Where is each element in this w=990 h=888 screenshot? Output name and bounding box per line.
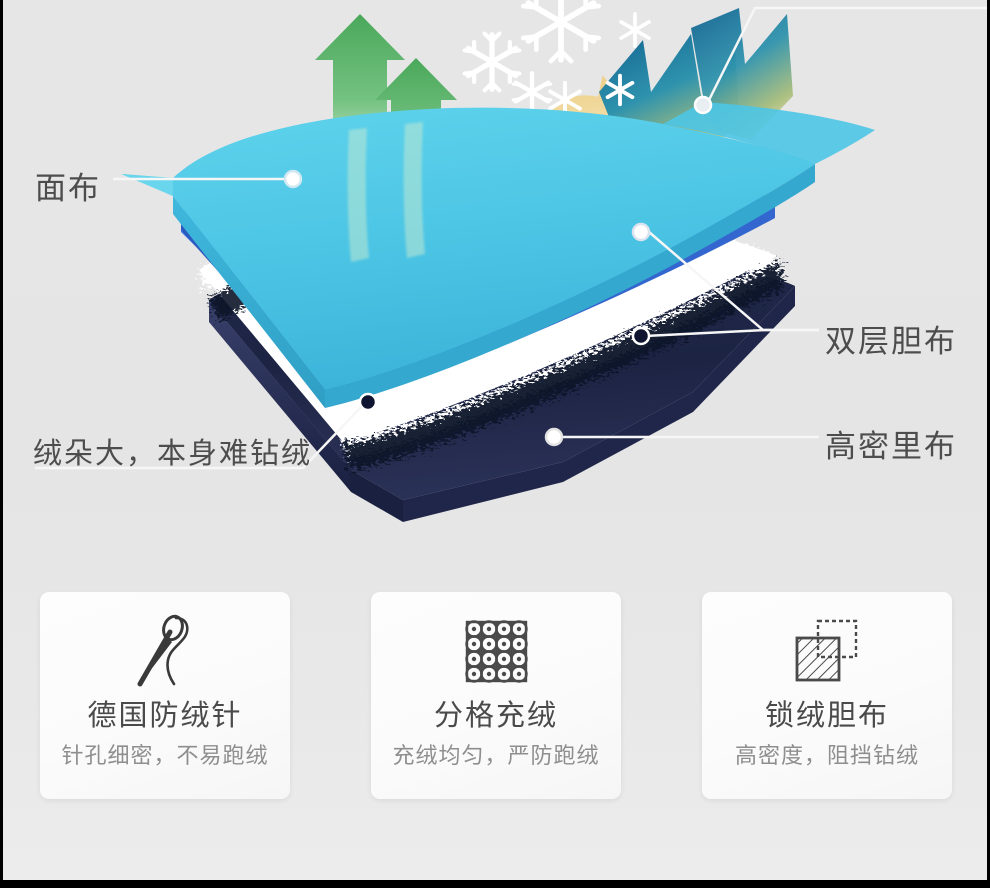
feature-card-title: 锁绒胆布 bbox=[702, 692, 952, 734]
callout-label-shuangceng: 双层胆布 bbox=[825, 316, 957, 361]
callout-label-mianbu: 面布 bbox=[35, 163, 101, 208]
snowflake-icon bbox=[621, 14, 649, 46]
snowflake-group bbox=[465, 0, 649, 117]
quilt-grid-icon bbox=[371, 612, 621, 690]
callout-label-rongduo: 绒朵大，本身难钻绒 bbox=[33, 430, 312, 472]
content-panel: 面布 双层胆布 高密里布 绒朵大，本身难钻绒 德国防绒针 针孔细密，不易跑绒 bbox=[3, 0, 987, 880]
marker-dot-shuangceng-2 bbox=[633, 328, 649, 344]
feature-card-title: 德国防绒针 bbox=[40, 692, 290, 734]
snowflake-icon bbox=[465, 34, 520, 91]
feature-card-down-proof-lining[interactable]: 锁绒胆布 高密度，阻挡钻绒 bbox=[702, 592, 952, 799]
fabric-swatches-icon bbox=[702, 612, 952, 690]
feature-card-row: 德国防绒针 针孔细密，不易跑绒 bbox=[3, 592, 987, 807]
marker-dot-shuangceng bbox=[633, 224, 649, 240]
feature-card-subtitle: 针孔细密，不易跑绒 bbox=[40, 738, 290, 770]
snowflake-icon bbox=[523, 0, 598, 61]
feature-card-subtitle: 充绒均匀，严防跑绒 bbox=[371, 738, 621, 770]
feature-card-german-anti-down-needle[interactable]: 德国防绒针 针孔细密，不易跑绒 bbox=[40, 592, 290, 799]
snowflake-icon bbox=[513, 73, 550, 110]
marker-dot-topright bbox=[695, 97, 711, 113]
feature-card-title: 分格充绒 bbox=[371, 692, 621, 734]
needle-thread-icon bbox=[40, 612, 290, 690]
feature-card-baffle-box-filling[interactable]: 分格充绒 充绒均匀，严防跑绒 bbox=[371, 592, 621, 799]
marker-dot-gaomi bbox=[546, 429, 562, 445]
fabric-layers-illustration bbox=[3, 0, 987, 560]
marker-dot-mianbu bbox=[285, 171, 301, 187]
callout-label-gaomi: 高密里布 bbox=[825, 421, 957, 466]
marker-dot-rongduo bbox=[360, 394, 376, 410]
screenshot-root: 面布 双层胆布 高密里布 绒朵大，本身难钻绒 德国防绒针 针孔细密，不易跑绒 bbox=[0, 0, 990, 888]
feature-card-subtitle: 高密度，阻挡钻绒 bbox=[702, 738, 952, 770]
